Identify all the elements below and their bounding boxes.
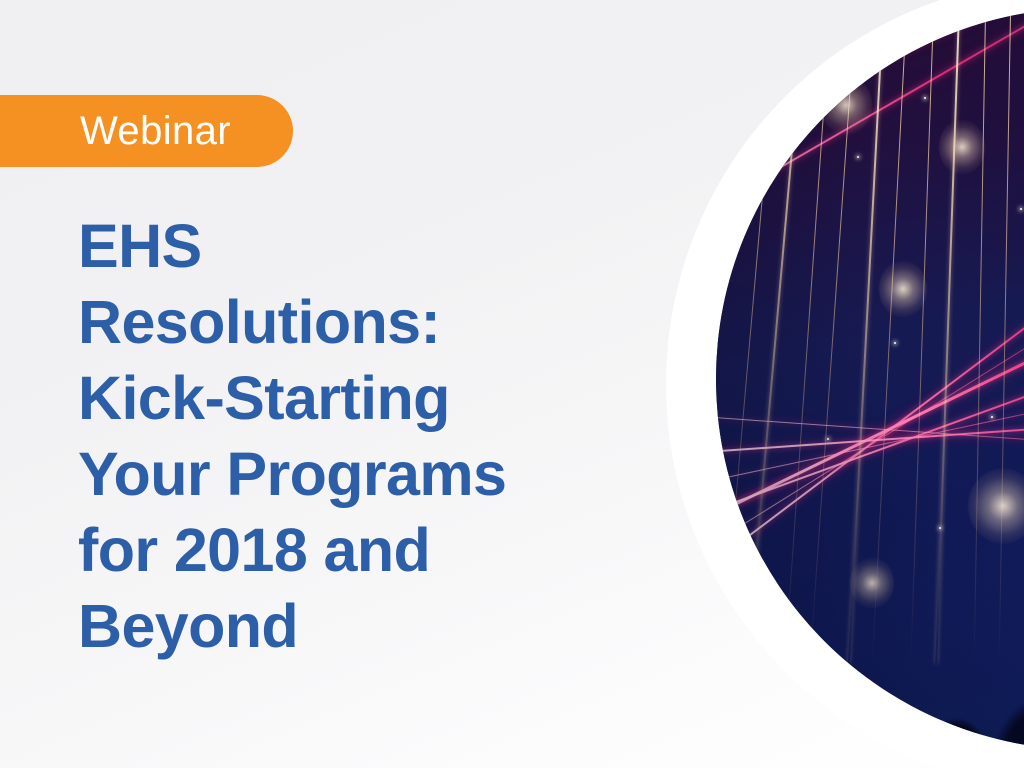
headline-line-5: for 2018 and	[78, 512, 608, 588]
webinar-badge: Webinar	[0, 95, 293, 167]
slide-canvas: Webinar EHS Resolutions: Kick-Starting Y…	[0, 0, 1024, 768]
headline-line-4: Your Programs	[78, 436, 608, 512]
webinar-badge-label: Webinar	[80, 111, 231, 151]
headline-line-2: Resolutions:	[78, 284, 608, 360]
headline-line-6: Beyond	[78, 588, 608, 664]
page-title: EHS Resolutions: Kick-Starting Your Prog…	[78, 208, 608, 664]
text-column: Webinar EHS Resolutions: Kick-Starting Y…	[0, 0, 640, 768]
headline-line-3: Kick-Starting	[78, 360, 608, 436]
falling-sparks-group	[716, 8, 1024, 750]
fireworks-photo-circle	[716, 8, 1024, 750]
treeline-silhouette	[761, 646, 1024, 750]
headline-line-1: EHS	[78, 208, 608, 284]
